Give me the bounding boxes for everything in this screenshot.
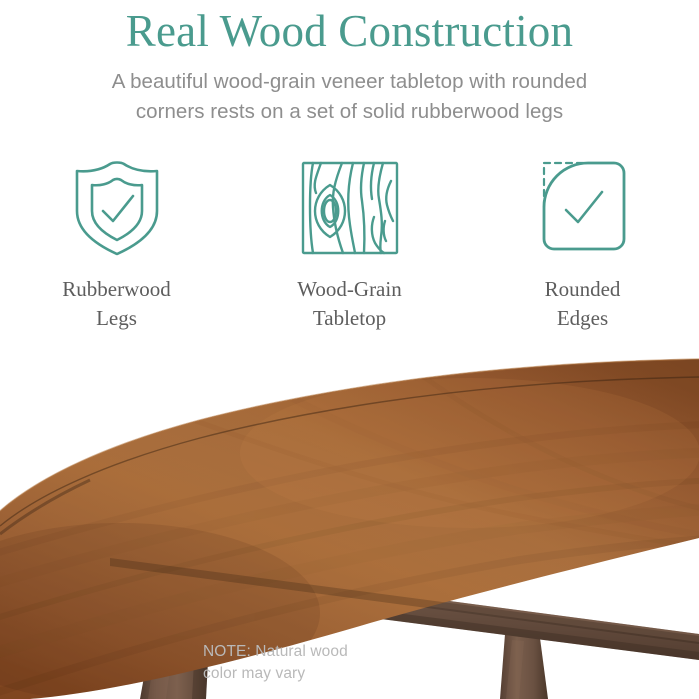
page-title: Real Wood Construction xyxy=(0,0,699,56)
wood-grain-square-icon xyxy=(297,158,403,258)
feature-label-wood-grain-tabletop: Wood-Grain Tabletop xyxy=(297,275,401,333)
feature-label-rubberwood-legs: Rubberwood Legs xyxy=(62,275,171,333)
rounded-corner-check-icon xyxy=(530,158,636,258)
feature-label-line-2: Legs xyxy=(62,304,171,333)
feature-label-rounded-edges: Rounded Edges xyxy=(545,275,621,333)
product-photo xyxy=(0,348,699,699)
header-section: Real Wood Construction A beautiful wood-… xyxy=(0,0,699,150)
feature-label-line-2: Tabletop xyxy=(297,304,401,333)
feature-label-line-1: Rounded xyxy=(545,275,621,304)
feature-label-line-1: Rubberwood xyxy=(62,275,171,304)
shield-check-icon xyxy=(71,158,163,258)
feature-label-line-1: Wood-Grain xyxy=(297,275,401,304)
subtitle-line-1: A beautiful wood-grain veneer tabletop w… xyxy=(0,67,699,96)
feature-label-line-2: Edges xyxy=(545,304,621,333)
feature-item-rubberwood-legs: Rubberwood Legs xyxy=(0,158,233,333)
feature-row: Rubberwood Legs xyxy=(0,158,699,348)
product-feature-infographic: Real Wood Construction A beautiful wood-… xyxy=(0,0,699,699)
subtitle-line-2: corners rests on a set of solid rubberwo… xyxy=(0,97,699,126)
feature-item-rounded-edges: Rounded Edges xyxy=(466,158,699,333)
page-subtitle: A beautiful wood-grain veneer tabletop w… xyxy=(0,56,699,125)
feature-item-wood-grain-tabletop: Wood-Grain Tabletop xyxy=(233,158,466,333)
